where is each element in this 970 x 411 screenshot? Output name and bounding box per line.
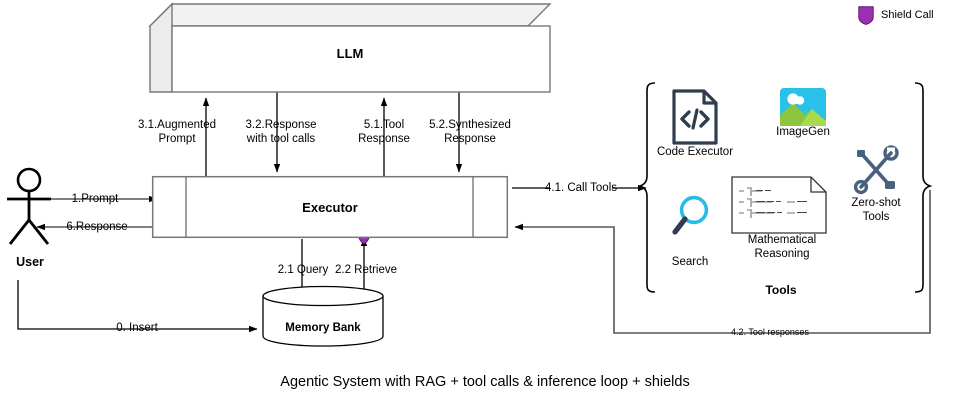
tools-right-brace (915, 83, 930, 292)
tool-label-search: Search (635, 256, 745, 270)
flow-label-prompt: 1.Prompt (72, 193, 119, 207)
shield-icon (858, 6, 874, 25)
memory-bank-node[interactable] (262, 285, 384, 347)
tools-panel-label: Tools (765, 283, 796, 297)
memory-bank-label: Memory Bank (285, 322, 360, 336)
image-icon[interactable] (780, 88, 826, 126)
flow-label-tool-responses: 4.2. Tool responses (731, 327, 809, 338)
flow-label-synthesized-response: 5.2.Synthesized Response (429, 119, 511, 146)
diagram-caption: Agentic System with RAG + tool calls & i… (280, 374, 689, 391)
legend-shield-label: Shield Call (881, 9, 934, 22)
user-actor[interactable] (4, 168, 60, 248)
crossed-tools-icon[interactable] (849, 143, 903, 197)
flow-label-retrieve: 2.2 Retrieve (335, 264, 397, 278)
flow-label-response: 6.Response (66, 221, 127, 235)
flow-label-augmented-prompt: 3.1.Augmented Prompt (138, 119, 216, 146)
magnifier-icon[interactable] (670, 194, 712, 238)
code-document-icon[interactable] (671, 88, 719, 146)
user-label: User (16, 255, 44, 270)
executor-label: Executor (302, 200, 358, 215)
tool-label-imagegen: ImageGen (743, 126, 863, 140)
llm-label: LLM (337, 46, 364, 61)
flow-label-call-tools: 4.1. Call Tools (545, 182, 617, 196)
tool-label-code-executor: Code Executor (635, 146, 755, 160)
flow-label-tool-response: 5.1.Tool Response (358, 119, 410, 146)
flow-label-response-with-tool-calls: 3.2.Response with tool calls (246, 119, 317, 146)
math-document-icon[interactable] (731, 176, 827, 234)
flow-label-insert: 0. Insert (116, 322, 158, 336)
tool-label-zero-shot-tools: Zero-shot Tools (821, 197, 931, 224)
flow-label-query: 2.1 Query (278, 264, 329, 278)
